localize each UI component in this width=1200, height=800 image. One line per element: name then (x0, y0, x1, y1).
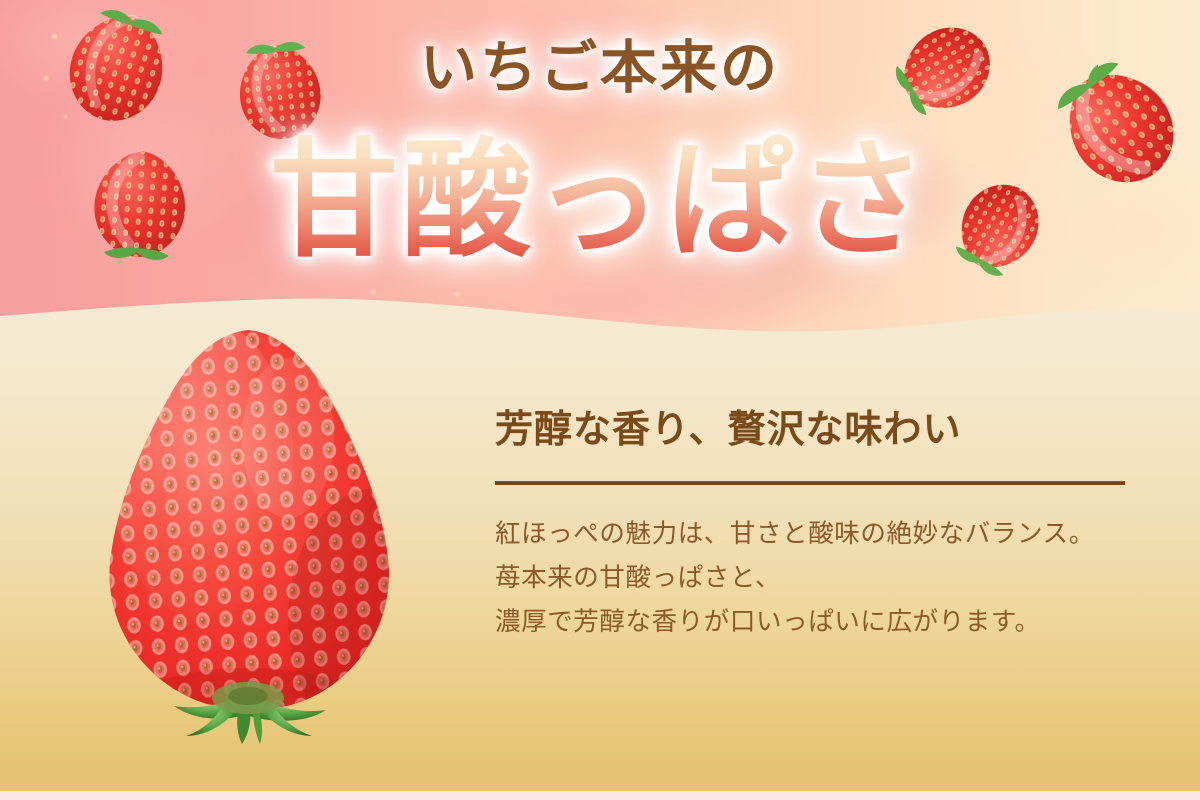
headline-subtitle: いちご本来の (0, 38, 1200, 101)
sparkle-dot (371, 290, 375, 294)
bottom-accent-strip (0, 791, 1200, 800)
headline-title-fill: 甘酸っぱさ (270, 130, 930, 272)
headline-title: 甘酸っぱさ 甘酸っぱさ (0, 128, 1200, 275)
copy-block: 芳醇な香り、贅沢な味わい 紅ほっぺの魅力は、甘さと酸味の絶妙なバランス。 苺本来… (495, 398, 1135, 644)
sparkle-dot (455, 292, 459, 296)
strawberry-promo-banner: いちご本来の 甘酸っぱさ 甘酸っぱさ (0, 0, 1200, 800)
copy-divider (495, 481, 1125, 485)
copy-body-line: 苺本来の甘酸っぱさと、 (495, 556, 1135, 600)
sparkle-dot (64, 115, 67, 118)
copy-body-line: 紅ほっぺの魅力は、甘さと酸味の絶妙なバランス。 (495, 512, 1135, 556)
copy-body: 紅ほっぺの魅力は、甘さと酸味の絶妙なバランス。 苺本来の甘酸っぱさと、 濃厚で芳… (495, 512, 1135, 644)
copy-heading: 芳醇な香り、贅沢な味わい (495, 398, 1135, 453)
copy-body-line: 濃厚で芳醇な香りが口いっぱいに広がります。 (495, 600, 1135, 644)
